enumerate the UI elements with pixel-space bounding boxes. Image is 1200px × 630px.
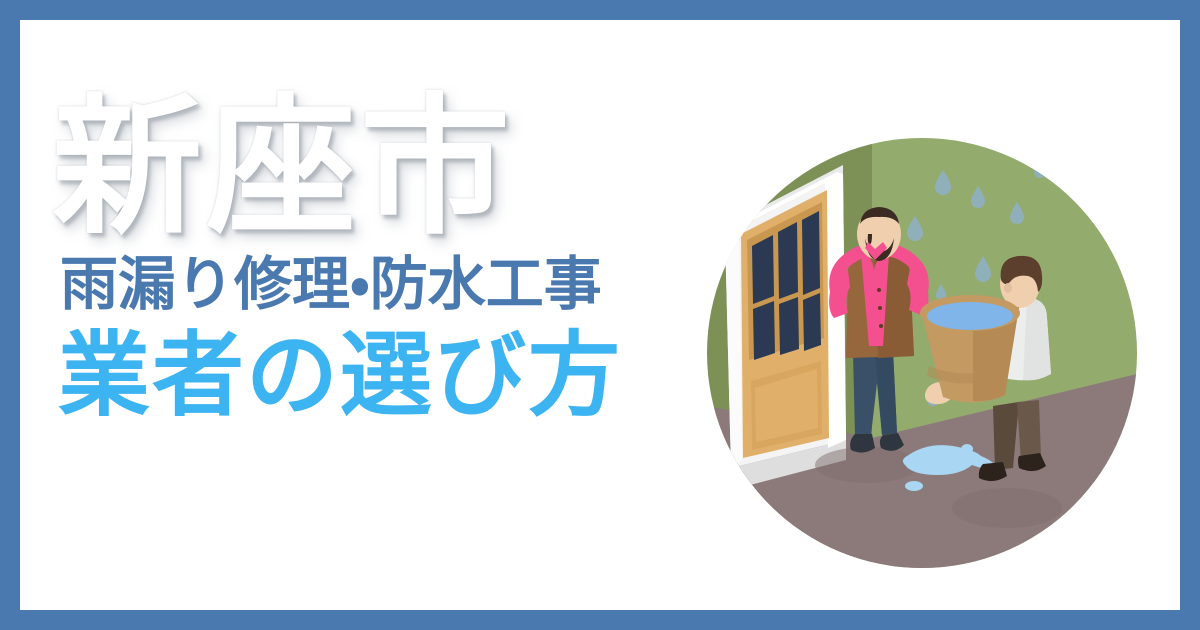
page-title: 新座市: [52, 92, 712, 242]
shadow-standing-man: [815, 447, 919, 483]
raindrop-icon: [1034, 160, 1046, 178]
man1-button: [879, 324, 883, 328]
banner-canvas: 新座市 雨漏り修理・防水工事 業者の選び方: [0, 0, 1200, 630]
door-pane-5: [779, 297, 799, 355]
rain-leak-scene-svg: [707, 138, 1137, 568]
water-small-puddle: [905, 481, 923, 491]
frame-border-right: [1180, 0, 1200, 630]
man2-shoe-back: [979, 462, 1007, 481]
man1-button: [878, 306, 882, 310]
man1-button: [877, 288, 881, 292]
water-splash-drop: [961, 444, 973, 454]
bucket-water: [927, 302, 1013, 330]
door-pane-3: [802, 211, 820, 295]
man2-ear: [1004, 283, 1012, 293]
scene-contents: [707, 138, 1137, 568]
frame-border-bottom: [0, 610, 1200, 630]
frame-border-left: [0, 0, 20, 630]
page-subtitle: 雨漏り修理・防水工事: [60, 256, 712, 314]
headline-block: 新座市 雨漏り修理・防水工事 業者の選び方: [52, 92, 712, 422]
frame-border-top: [0, 0, 1200, 20]
door-pane-6: [803, 293, 821, 351]
man1-shoe-left: [850, 434, 875, 453]
door-pane-1: [752, 235, 774, 304]
page-tagline: 業者の選び方: [58, 330, 712, 422]
man2-leg-front: [1017, 400, 1041, 462]
door-pane-2: [778, 222, 798, 299]
shadow-bucket-man: [952, 488, 1062, 528]
rain-leak-illustration: [707, 138, 1137, 568]
door-pane-4: [753, 301, 775, 360]
